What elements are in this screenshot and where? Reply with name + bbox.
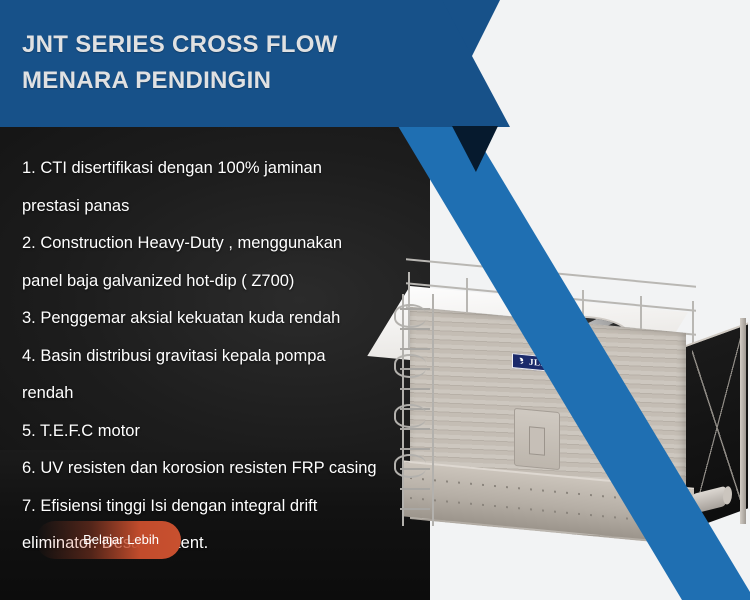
cooling-tower-image: JLET	[398, 258, 750, 588]
feature-line: 2. Construction Heavy-Duty , menggunakan	[22, 225, 422, 263]
swirl-logo-icon	[516, 356, 526, 367]
title-line-2: MENARA PENDINGIN	[22, 63, 442, 99]
feature-line: 4. Basin distribusi gravitasi kepala pom…	[22, 338, 422, 376]
feature-line: 7. Efisiensi tinggi Isi dengan integral …	[22, 488, 422, 526]
page-title: JNT SERIES CROSS FLOW MENARA PENDINGIN	[22, 27, 442, 99]
feature-line: 1. CTI disertifikasi dengan 100% jaminan	[22, 150, 422, 188]
door-latch	[529, 426, 545, 456]
feature-line: 6. UV resisten dan korosion resisten FRP…	[22, 450, 422, 488]
feature-line: 3. Penggemar aksial kekuatan kuda rendah	[22, 300, 422, 338]
title-line-1: JNT SERIES CROSS FLOW	[22, 27, 442, 63]
learn-more-button[interactable]: Belajar Lebih	[36, 521, 181, 559]
access-door-panel	[514, 408, 560, 470]
brand-name: JLET	[529, 358, 554, 369]
product-promo-banner: JLET	[0, 0, 750, 600]
feature-line: 5. T.E.F.C motor	[22, 413, 422, 451]
feature-line: prestasi panas	[22, 188, 422, 226]
feature-line: rendah	[22, 375, 422, 413]
feature-list: 1. CTI disertifikasi dengan 100% jaminan…	[22, 150, 422, 563]
feature-line: panel baja galvanized hot-dip ( Z700)	[22, 263, 422, 301]
corner-support-post	[740, 318, 746, 524]
